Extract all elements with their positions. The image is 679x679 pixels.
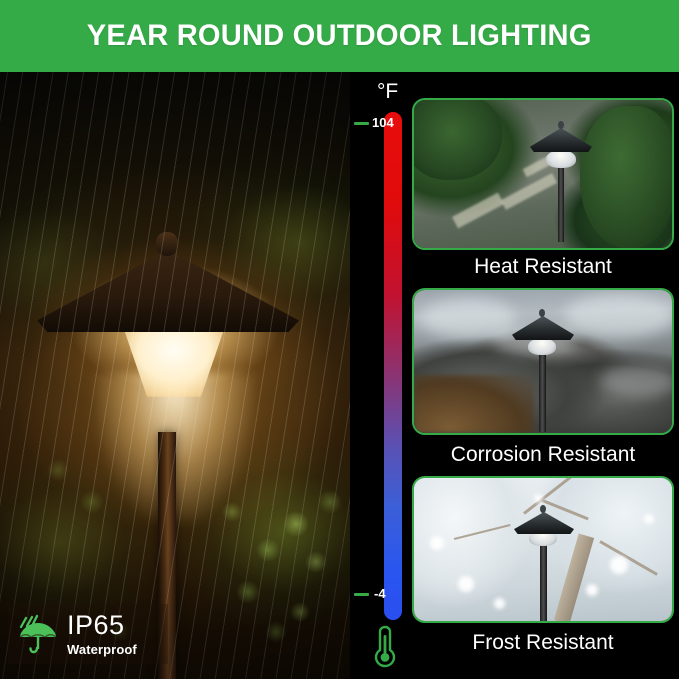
mist-cloud (600, 364, 674, 398)
fixture-finial (540, 505, 546, 513)
path-highlight (452, 193, 504, 229)
image-light-on-misty-rocky-ground (414, 290, 672, 433)
snow-branch (454, 524, 511, 540)
waterproof-label: Waterproof (67, 643, 137, 656)
fixture-post (539, 348, 546, 432)
fixture-post (540, 540, 547, 622)
fixture-finial (539, 309, 545, 317)
hero-vignette (0, 72, 350, 679)
feature-panel-frost-resistant (412, 476, 674, 623)
ip65-waterproof-badge: IP65 Waterproof (8, 604, 168, 664)
temperature-low-label: -4 (374, 586, 386, 601)
temperature-gradient-bar (384, 112, 402, 620)
snowflake (610, 556, 628, 574)
mist-cloud (564, 294, 674, 338)
fixture-post (558, 158, 564, 242)
temperature-scale: °F 104 -4 (352, 72, 410, 679)
snowflake (534, 494, 543, 503)
fallen-tree-trunk (554, 534, 594, 623)
umbrella-icon (18, 613, 58, 655)
caption-frost-resistant: Frost Resistant (412, 631, 674, 655)
image-light-on-sunny-garden-path (414, 100, 672, 248)
fixture-finial (558, 121, 564, 129)
temperature-unit-label: °F (377, 80, 398, 104)
page-title: YEAR ROUND OUTDOOR LIGHTING (87, 19, 592, 53)
snowflake (644, 514, 654, 524)
dirt-mound (414, 375, 534, 433)
feature-panel-heat-resistant (412, 98, 674, 250)
product-feature-poster: YEAR ROUND OUTDOOR LIGHTING IP65 (0, 0, 679, 679)
fixture-shade (514, 512, 574, 534)
ip65-text-block: IP65 Waterproof (67, 612, 137, 656)
image-light-in-snowy-forest (414, 478, 672, 621)
snowflake (494, 598, 505, 609)
ip65-rating-label: IP65 (67, 612, 137, 639)
thermometer-icon (372, 624, 398, 668)
snowflake (430, 536, 444, 550)
temperature-high-label: 104 (372, 115, 394, 130)
fixture-bulb (528, 338, 556, 355)
path-highlight (501, 173, 557, 210)
feature-panel-corrosion-resistant (412, 288, 674, 435)
shrub-right (580, 106, 674, 248)
header-banner: YEAR ROUND OUTDOOR LIGHTING (0, 0, 679, 72)
caption-corrosion-resistant: Corrosion Resistant (412, 443, 674, 467)
shrub-left (412, 98, 502, 180)
hero-image-outdoor-light-in-rain (0, 72, 350, 679)
fixture-bulb (546, 150, 576, 168)
snow-branch (599, 540, 658, 576)
tick-mark-high (354, 122, 369, 125)
tick-mark-low (354, 593, 369, 596)
caption-heat-resistant: Heat Resistant (412, 255, 674, 279)
snowflake (586, 584, 598, 596)
snowflake (458, 576, 474, 592)
fixture-shade (530, 128, 592, 152)
